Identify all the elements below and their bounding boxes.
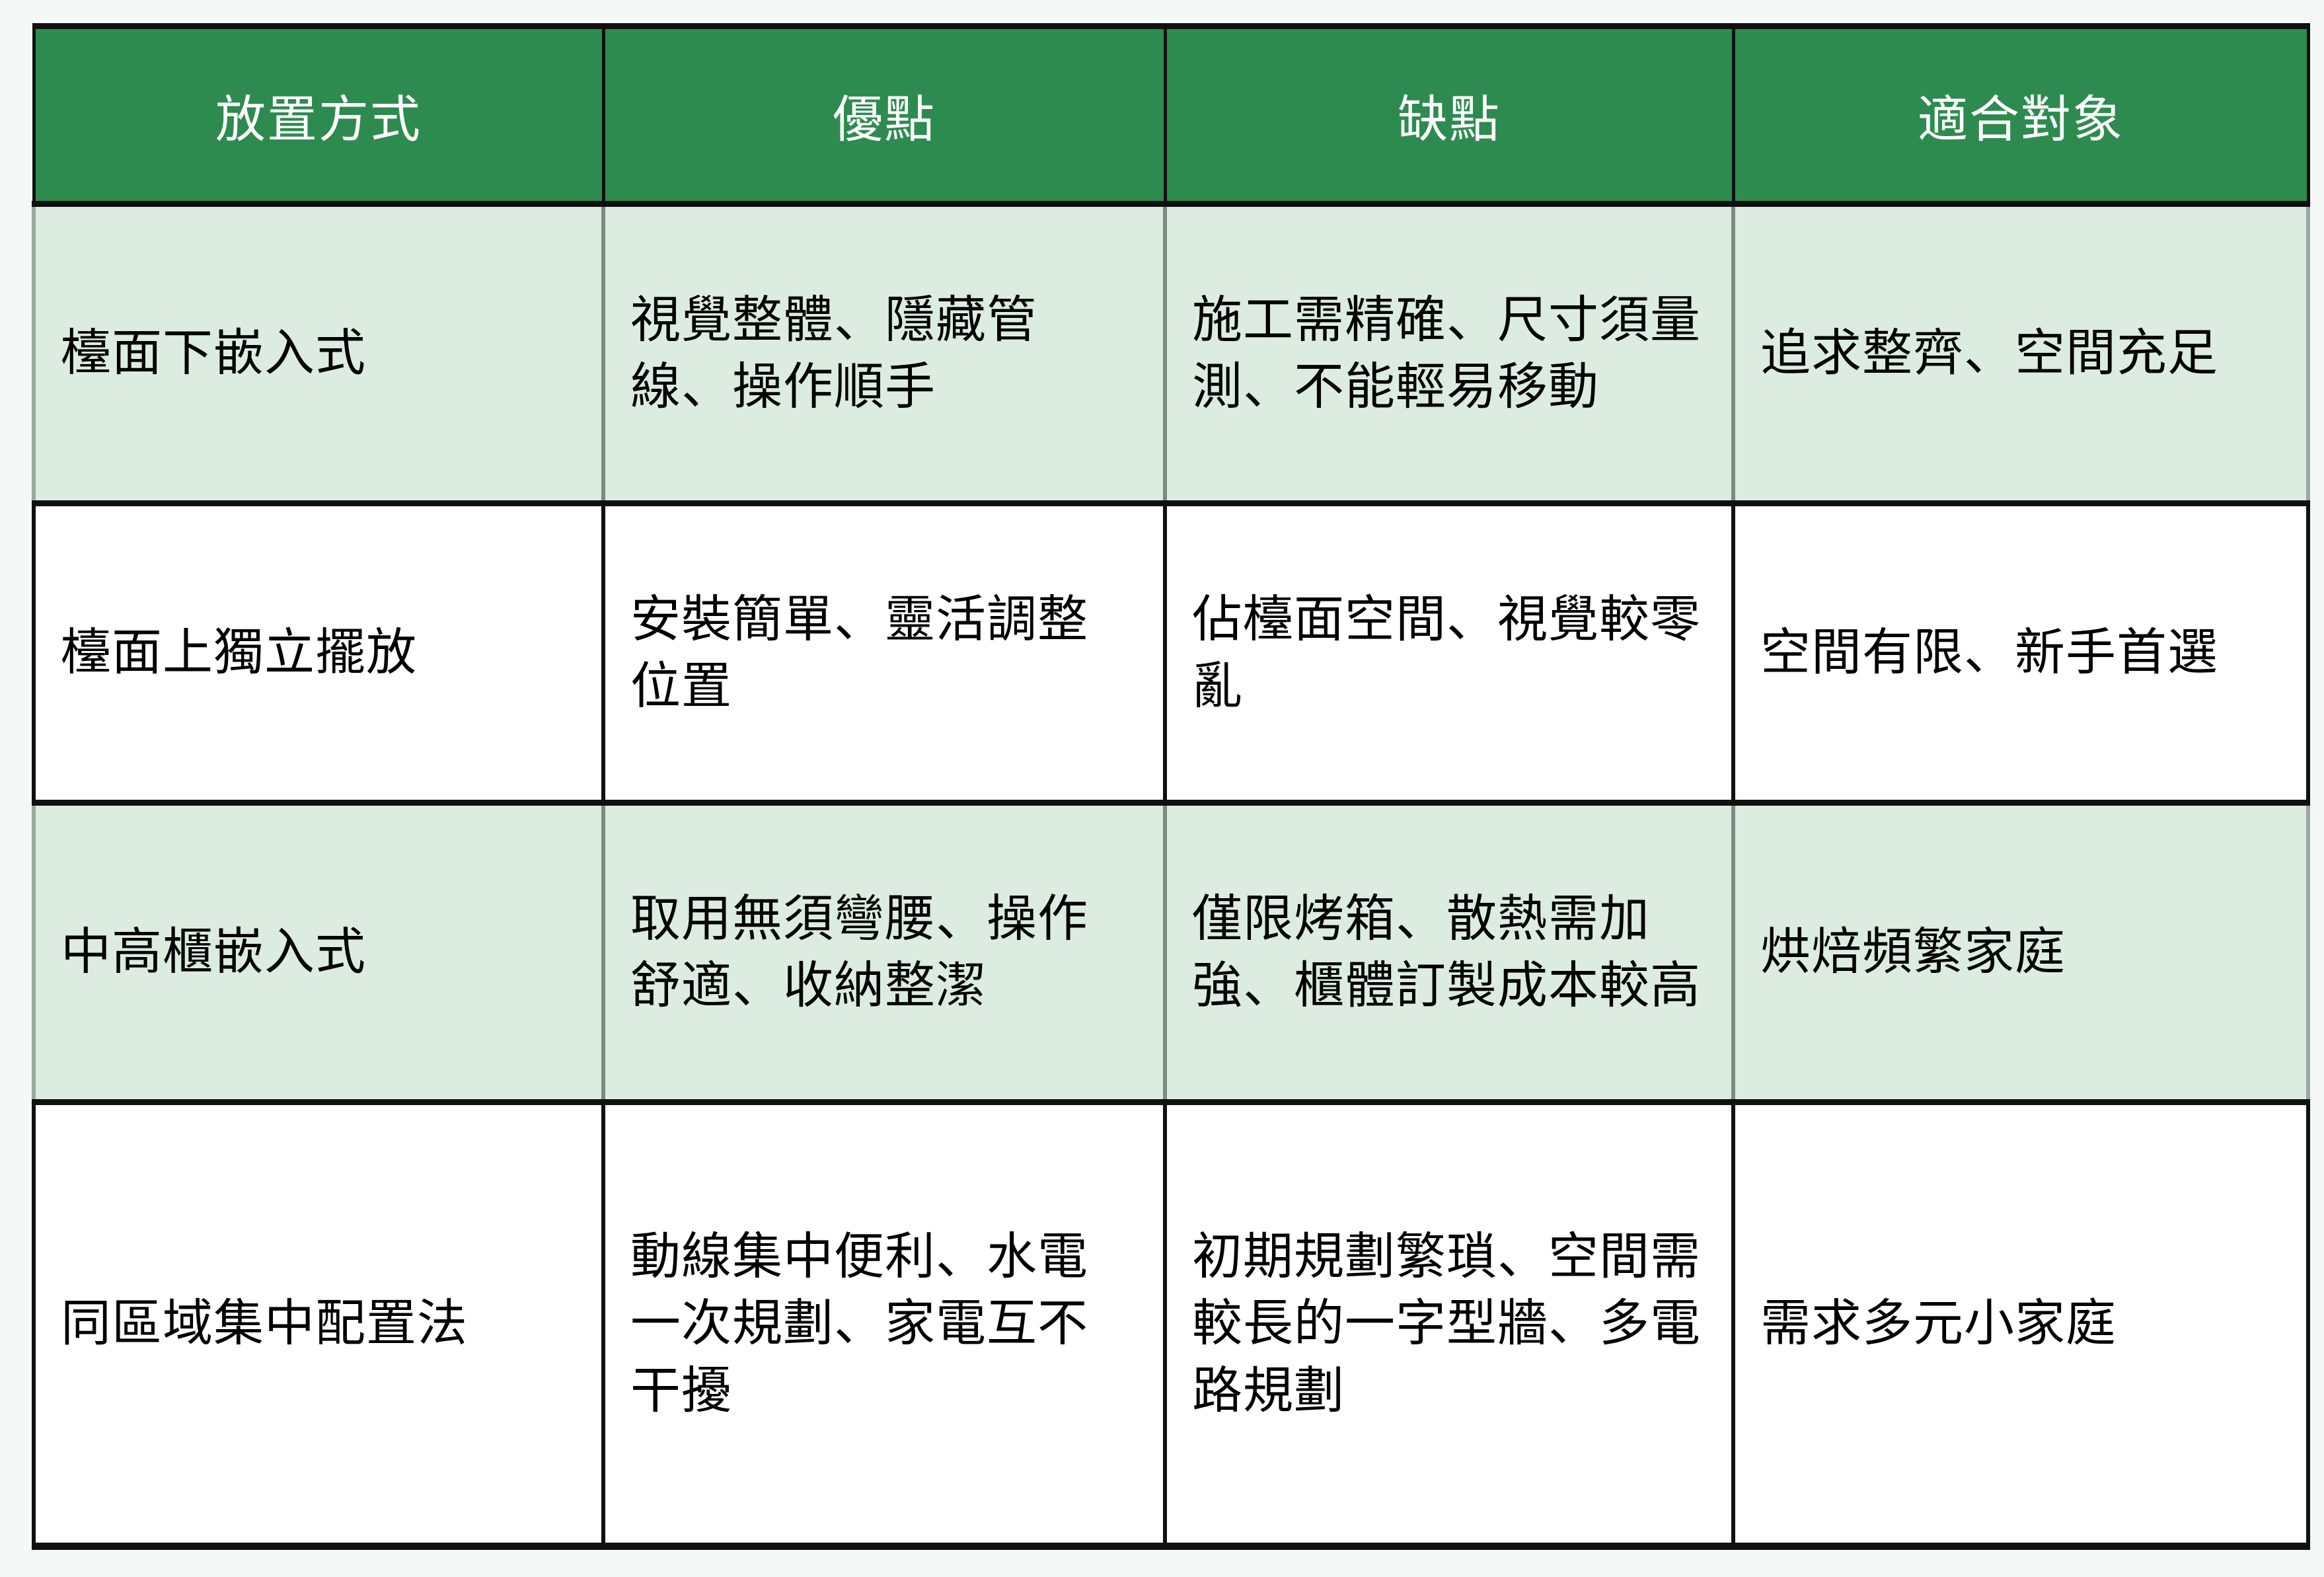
column-header-audience: 適合對象 xyxy=(1733,26,2308,204)
cell-method: 中高櫃嵌入式 xyxy=(34,803,603,1102)
appliance-placement-comparison-table: 放置方式 優點 缺點 適合對象 檯面下嵌入式 視覺整體、隱藏管線、操作順手 施工… xyxy=(32,23,2310,1550)
cell-cons: 施工需精確、尺寸須量測、不能輕易移動 xyxy=(1165,204,1733,504)
cell-audience: 需求多元小家庭 xyxy=(1733,1102,2308,1547)
cell-cons: 佔檯面空間、視覺較零亂 xyxy=(1165,504,1733,803)
table-body: 檯面下嵌入式 視覺整體、隱藏管線、操作順手 施工需精確、尺寸須量測、不能輕易移動… xyxy=(34,204,2308,1547)
table-header-row: 放置方式 優點 缺點 適合對象 xyxy=(34,26,2308,204)
cell-pros: 安裝簡單、靈活調整位置 xyxy=(603,504,1165,803)
cell-pros: 動線集中便利、水電一次規劃、家電互不干擾 xyxy=(603,1102,1165,1547)
comparison-table-container: 放置方式 優點 缺點 適合對象 檯面下嵌入式 視覺整體、隱藏管線、操作順手 施工… xyxy=(32,23,2306,1550)
cell-method: 同區域集中配置法 xyxy=(34,1102,603,1547)
cell-pros: 取用無須彎腰、操作舒適、收納整潔 xyxy=(603,803,1165,1102)
cell-cons: 初期規劃繁瑣、空間需較長的一字型牆、多電路規劃 xyxy=(1165,1102,1733,1547)
table-row: 同區域集中配置法 動線集中便利、水電一次規劃、家電互不干擾 初期規劃繁瑣、空間需… xyxy=(34,1102,2308,1547)
table-header: 放置方式 優點 缺點 適合對象 xyxy=(34,26,2308,204)
cell-method: 檯面上獨立擺放 xyxy=(34,504,603,803)
table-row: 檯面下嵌入式 視覺整體、隱藏管線、操作順手 施工需精確、尺寸須量測、不能輕易移動… xyxy=(34,204,2308,504)
cell-cons: 僅限烤箱、散熱需加強、櫃體訂製成本較高 xyxy=(1165,803,1733,1102)
cell-audience: 追求整齊、空間充足 xyxy=(1733,204,2308,504)
cell-pros: 視覺整體、隱藏管線、操作順手 xyxy=(603,204,1165,504)
cell-audience: 烘焙頻繁家庭 xyxy=(1733,803,2308,1102)
column-header-pros: 優點 xyxy=(603,26,1165,204)
column-header-cons: 缺點 xyxy=(1165,26,1733,204)
column-header-method: 放置方式 xyxy=(34,26,603,204)
cell-audience: 空間有限、新手首選 xyxy=(1733,504,2308,803)
cell-method: 檯面下嵌入式 xyxy=(34,204,603,504)
table-row: 檯面上獨立擺放 安裝簡單、靈活調整位置 佔檯面空間、視覺較零亂 空間有限、新手首… xyxy=(34,504,2308,803)
table-row: 中高櫃嵌入式 取用無須彎腰、操作舒適、收納整潔 僅限烤箱、散熱需加強、櫃體訂製成… xyxy=(34,803,2308,1102)
